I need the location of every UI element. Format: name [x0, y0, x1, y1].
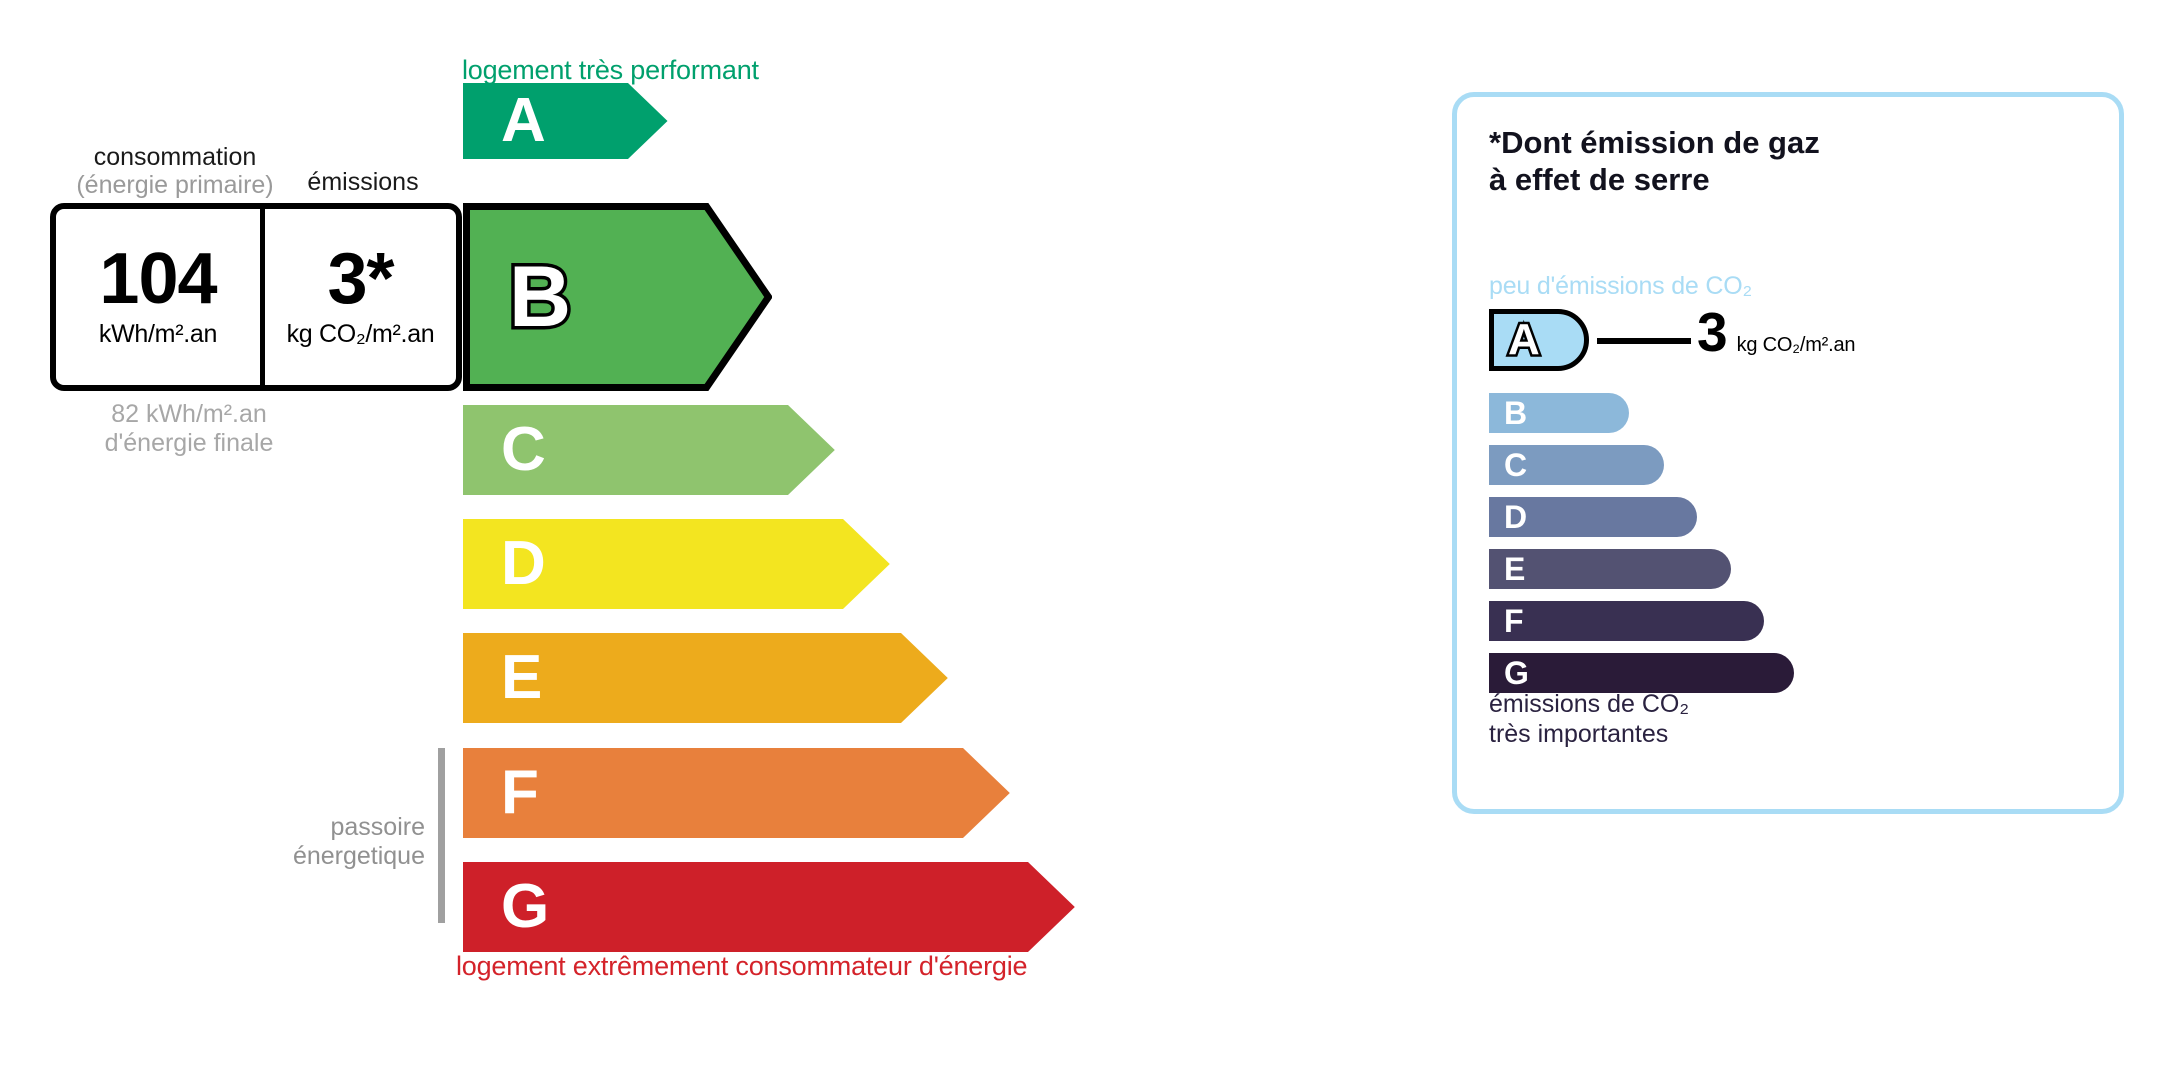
co2-class-letter-g: G — [1504, 657, 1529, 689]
consumption-value: 104 — [99, 245, 216, 313]
emissions-header: émissions — [288, 168, 438, 197]
energy-class-letter-e: E — [501, 647, 542, 709]
co2-title-line2: à effet de serre — [1489, 162, 1820, 199]
consumption-label: consommation — [94, 143, 257, 171]
co2-class-letter-c: C — [1504, 449, 1527, 481]
dpe-diagram: logement très performant consommation (é… — [0, 0, 2169, 1079]
energy-class-letter-g: G — [501, 876, 549, 938]
co2-bottom-line2: très importantes — [1489, 719, 1689, 749]
co2-unit: kg CO₂/m².an — [1737, 334, 1856, 357]
energy-class-letter-b: B — [509, 254, 571, 340]
emissions-unit: kg CO₂/m².an — [287, 320, 435, 349]
energy-class-arrow-b: B — [463, 203, 772, 391]
arrow-shape-g — [463, 862, 1075, 952]
consumption-header: consommation (énergie primaire) — [60, 143, 290, 199]
energy-top-caption: logement très performant — [462, 55, 759, 86]
energy-class-arrow-g: G — [463, 862, 1075, 952]
energy-class-letter-c: C — [501, 419, 546, 481]
passoire-bracket — [438, 748, 445, 923]
co2-class-bar-c: C — [1489, 445, 1664, 485]
energy-class-letter-a: A — [501, 90, 546, 152]
energy-class-letter-d: D — [501, 533, 546, 595]
consumption-unit: kWh/m².an — [99, 320, 217, 349]
consumption-sublabel: (énergie primaire) — [60, 171, 290, 199]
co2-title-line1: *Dont émission de gaz — [1489, 125, 1820, 162]
energy-scale-panel: logement très performant consommation (é… — [0, 0, 1400, 1079]
co2-class-letter-b: B — [1504, 397, 1527, 429]
co2-title: *Dont émission de gaz à effet de serre — [1489, 125, 1820, 198]
value-box: 104 kWh/m².an 3* kg CO₂/m².an — [50, 203, 462, 391]
co2-class-letter-e: E — [1504, 553, 1525, 585]
co2-panel: *Dont émission de gaz à effet de serre p… — [1452, 92, 2124, 814]
consumption-cell: 104 kWh/m².an — [56, 209, 260, 385]
emissions-value: 3* — [327, 245, 393, 313]
arrow-shape-f — [463, 748, 1010, 838]
co2-value: 3 — [1697, 305, 1728, 360]
co2-class-bar-f: F — [1489, 601, 1764, 641]
co2-class-bar-d: D — [1489, 497, 1697, 537]
emissions-cell: 3* kg CO₂/m².an — [260, 209, 456, 385]
energy-class-arrow-d: D — [463, 519, 890, 609]
co2-bottom-line1: émissions de CO₂ — [1489, 689, 1689, 719]
co2-class-bar-e: E — [1489, 549, 1731, 589]
co2-bottom-caption: émissions de CO₂ très importantes — [1489, 689, 1689, 749]
co2-class-bar-g: G — [1489, 653, 1794, 693]
co2-top-caption: peu d'émissions de CO₂ — [1489, 272, 1752, 301]
co2-leader-line — [1597, 338, 1691, 344]
co2-class-letter-f: F — [1504, 605, 1524, 637]
energy-class-arrow-a: A — [463, 83, 668, 159]
arrow-shape-a — [463, 83, 668, 159]
energy-class-arrow-e: E — [463, 633, 948, 723]
energy-class-arrow-c: C — [463, 405, 835, 495]
co2-value-group: 3 kg CO₂/m².an — [1697, 305, 1855, 360]
passoire-line2: énergetique — [250, 842, 425, 871]
co2-class-letter-a: A — [1508, 318, 1540, 362]
co2-class-bar-b: B — [1489, 393, 1629, 433]
energy-class-arrow-f: F — [463, 748, 1010, 838]
passoire-line1: passoire — [250, 813, 425, 842]
final-energy-value: 82 kWh/m².an — [64, 400, 314, 429]
co2-class-badge-a: A — [1489, 309, 1589, 371]
energy-bottom-caption: logement extrêmement consommateur d'éner… — [456, 951, 1027, 982]
final-energy-label: d'énergie finale — [64, 429, 314, 458]
final-energy-note: 82 kWh/m².an d'énergie finale — [64, 400, 314, 458]
energy-class-letter-f: F — [501, 762, 539, 824]
co2-class-letter-d: D — [1504, 501, 1527, 533]
passoire-label: passoire énergetique — [250, 813, 425, 871]
